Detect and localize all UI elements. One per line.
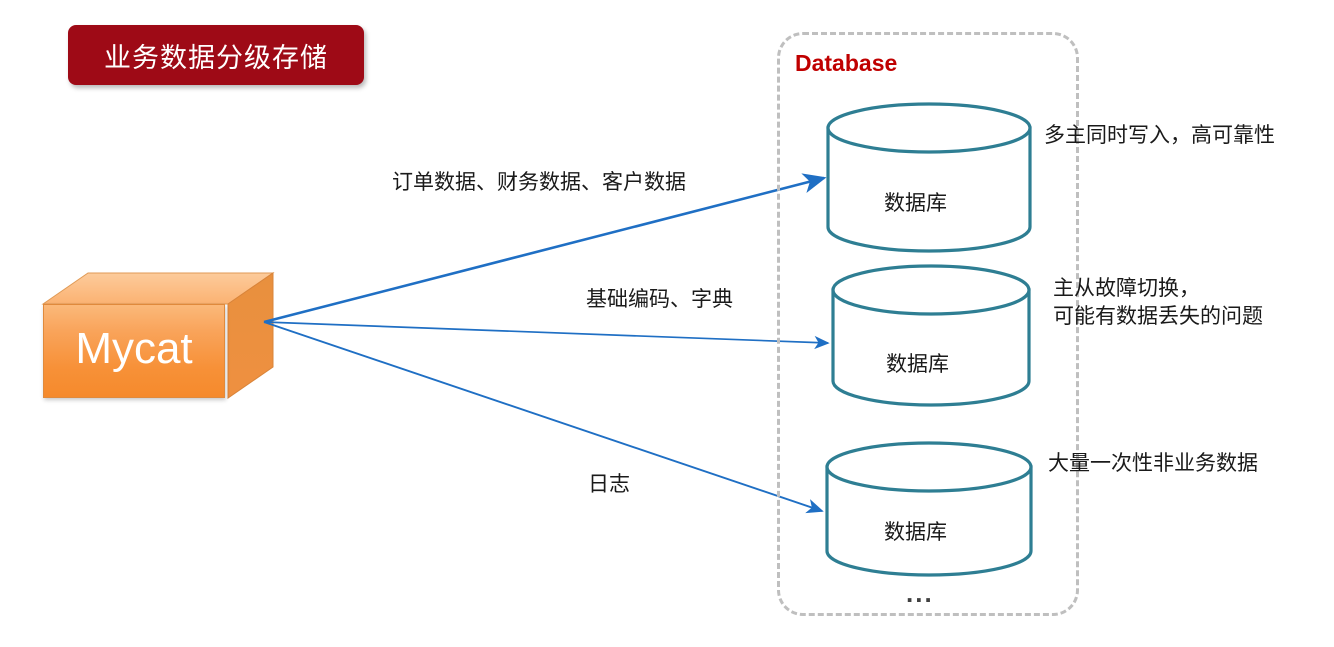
annotation-2-line-2: 可能有数据丢失的问题 xyxy=(1053,303,1263,331)
title-text: 业务数据分级存储 xyxy=(104,36,328,75)
mycat-front-face: Mycat xyxy=(43,304,225,398)
annotation-1: 多主同时写入，高可靠性 xyxy=(1044,122,1275,150)
annotation-2-line-1: 主从故障切换， xyxy=(1053,275,1263,303)
diagram-canvas: 业务数据分级存储 xyxy=(0,0,1334,647)
edge-label-3: 日志 xyxy=(588,468,630,498)
database-label-1: 数据库 xyxy=(884,187,947,217)
annotation-2: 主从故障切换， 可能有数据丢失的问题 xyxy=(1053,275,1263,330)
connector-arrows xyxy=(264,178,828,511)
edge-label-1: 订单数据、财务数据、客户数据 xyxy=(392,166,686,196)
annotation-1-line-1: 多主同时写入，高可靠性 xyxy=(1044,122,1275,150)
annotation-3: 大量一次性非业务数据 xyxy=(1048,450,1258,478)
title-banner: 业务数据分级存储 xyxy=(68,25,364,85)
database-label-2: 数据库 xyxy=(886,348,949,378)
mycat-label: Mycat xyxy=(75,327,192,375)
edge-label-2: 基础编码、字典 xyxy=(586,283,733,313)
database-label-3: 数据库 xyxy=(884,516,947,546)
more-databases-ellipsis: ... xyxy=(906,578,934,609)
database-group-label: Database xyxy=(795,50,897,77)
mycat-node[interactable]: Mycat xyxy=(40,272,272,400)
annotation-3-line-1: 大量一次性非业务数据 xyxy=(1048,450,1258,478)
